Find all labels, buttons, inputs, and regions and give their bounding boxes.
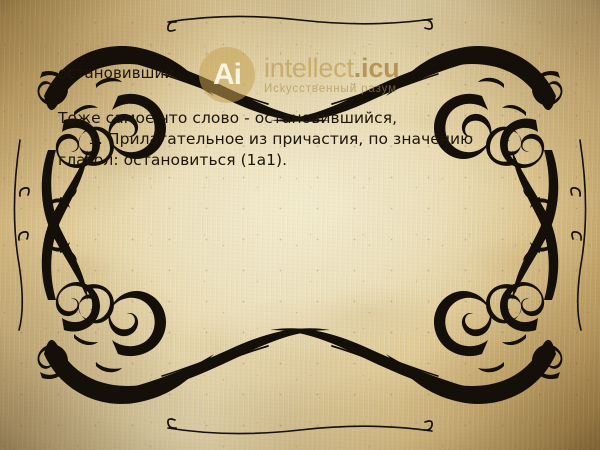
definition-line-2: 1. Прилагательное из причастия, по значе… <box>58 129 528 150</box>
border-curl-bottom-left <box>168 419 176 428</box>
border-line-bottom <box>168 426 432 433</box>
entry-definition: Тоже самое что слово - остановившийся, 1… <box>58 108 528 171</box>
border-line-left <box>14 140 22 330</box>
border-curl-left-lower <box>19 232 28 240</box>
border-curl-right-lower <box>572 232 581 240</box>
border-curl-bottom-right <box>424 421 432 430</box>
border-line-top <box>168 16 432 23</box>
parchment-page: остановивший Тоже самое что слово - оста… <box>0 0 600 450</box>
border-curl-top-left <box>168 22 176 31</box>
definition-line-1: Тоже самое что слово - остановившийся, <box>58 108 528 129</box>
definition-line-3: глагол: остановиться (1а1). <box>58 150 528 171</box>
corner-ornament-top-left <box>38 46 330 323</box>
border-line-right <box>578 140 586 330</box>
border-curl-top-right <box>424 20 432 29</box>
entry-headword: остановивший <box>58 64 174 82</box>
border-curl-left-upper <box>20 188 29 196</box>
border-curl-right-upper <box>571 188 580 196</box>
corner-ornament-top-right <box>270 46 562 323</box>
